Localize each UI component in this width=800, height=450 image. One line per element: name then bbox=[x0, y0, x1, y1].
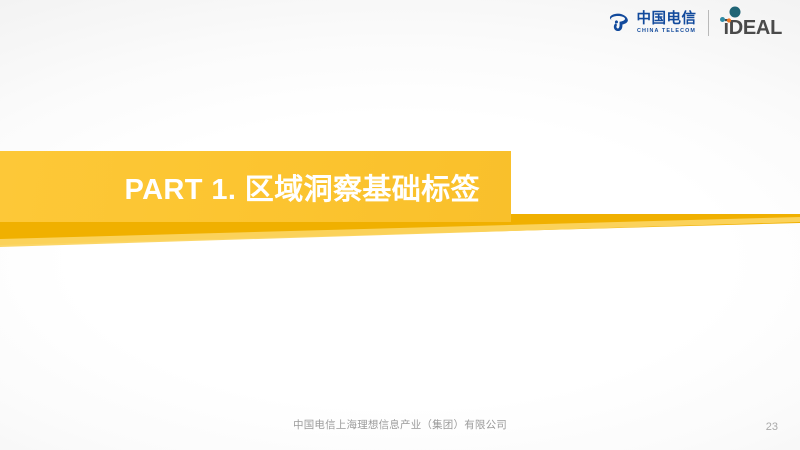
telecom-chinese-name: 中国电信 bbox=[636, 12, 696, 27]
china-telecom-mark-icon bbox=[605, 10, 631, 36]
china-telecom-wordmark: 中国电信 CHINA TELECOM bbox=[636, 12, 696, 34]
header-logo-bar: 中国电信 CHINA TELECOM iDEAL bbox=[570, 0, 800, 46]
page-number: 23 bbox=[766, 421, 778, 433]
ideal-dots-mark-icon bbox=[719, 6, 745, 26]
logo-divider bbox=[708, 10, 709, 36]
footer-company-text: 中国电信上海理想信息产业（集团）有限公司 bbox=[0, 417, 800, 432]
ideal-logo: iDEAL bbox=[721, 8, 782, 38]
page-title: PART 1. 区域洞察基础标签 bbox=[0, 151, 511, 222]
slide-canvas: 中国电信 CHINA TELECOM iDEAL PART 1. 区域洞察基础标… bbox=[0, 0, 800, 450]
china-telecom-logo: 中国电信 CHINA TELECOM bbox=[605, 10, 696, 36]
title-banner-group: PART 1. 区域洞察基础标签 bbox=[0, 151, 800, 251]
telecom-english-name: CHINA TELECOM bbox=[637, 29, 696, 34]
